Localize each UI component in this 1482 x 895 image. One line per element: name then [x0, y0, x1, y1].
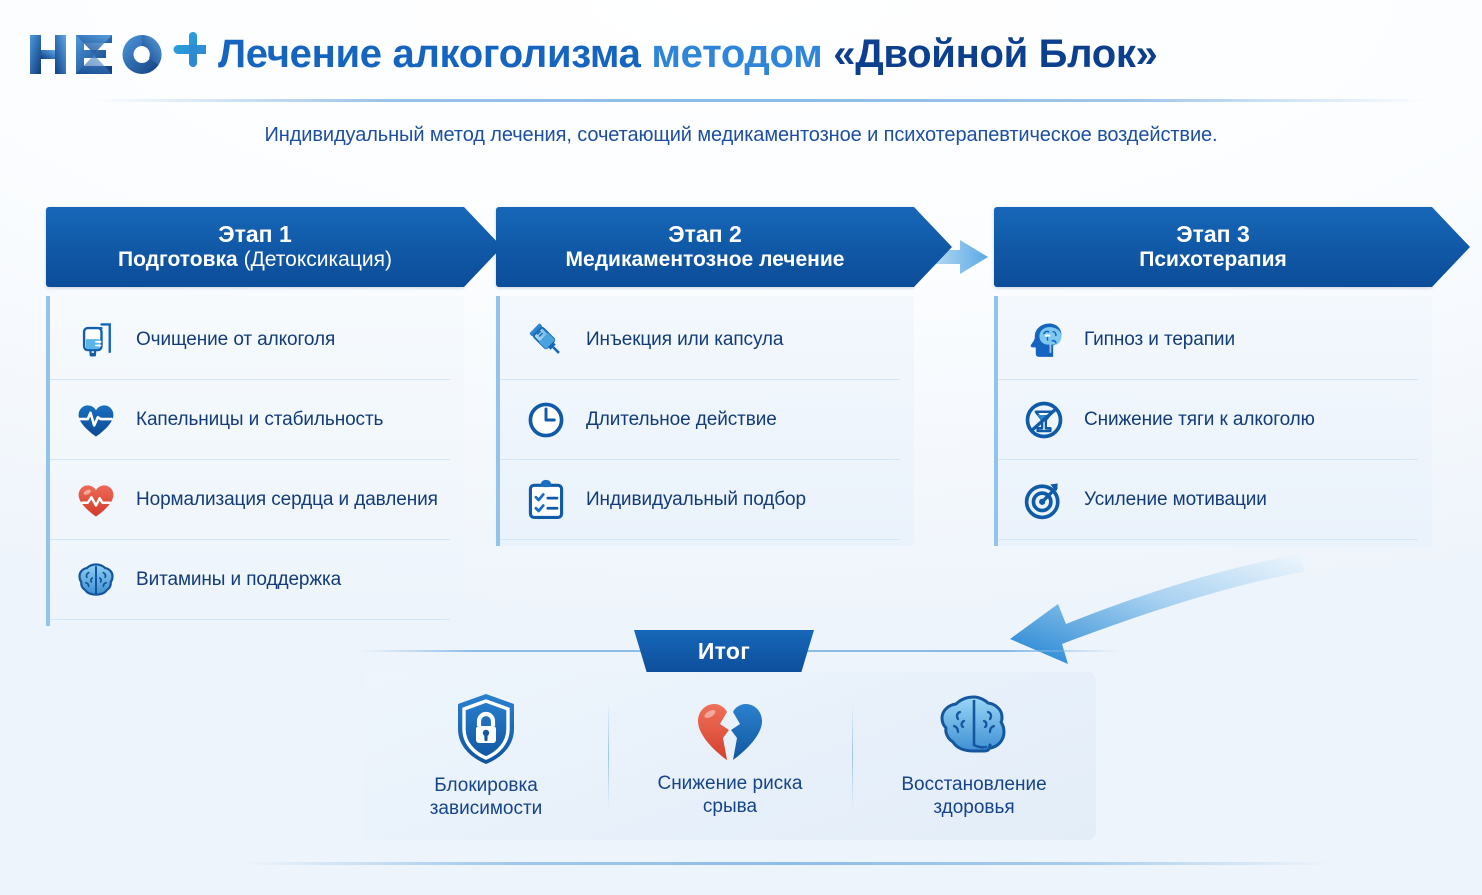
target-arrow-icon: [1020, 476, 1068, 524]
stage-header-1: Этап 1 Подготовка (Детоксикация): [46, 207, 464, 287]
list-item[interactable]: Усиление мотивации: [998, 460, 1418, 540]
heart-pulse-blue-icon: [72, 396, 120, 444]
list-item-label: Нормализация сердца и давления: [136, 489, 438, 511]
stage-body-2: Инъекция или капсула Длительное действие: [496, 296, 914, 546]
result-item[interactable]: Снижение рискасрыва: [608, 694, 852, 818]
title-part-2: методом: [651, 32, 833, 76]
list-item-label: Снижение тяги к алкоголю: [1084, 409, 1315, 431]
head-brain-icon: [1020, 316, 1068, 364]
stage-header-3: Этап 3 Психотерапия: [994, 207, 1432, 287]
brain-recovery-icon: [934, 693, 1014, 765]
result-item-label: Восстановлениездоровья: [901, 773, 1046, 819]
stage-number-2: Этап 2: [668, 222, 742, 247]
stage-column-3: Этап 3 Психотерапия Гипноз и терапии: [994, 207, 1432, 546]
neo-plus-logo: [26, 27, 206, 81]
list-item-label: Капельницы и стабильность: [136, 409, 383, 431]
list-item[interactable]: Индивидуальный подбор: [500, 460, 900, 540]
list-item-label: Индивидуальный подбор: [586, 489, 806, 511]
clipboard-checklist-icon: [522, 476, 570, 524]
stage-body-3: Гипноз и терапии Снижение тяги к алкогол…: [994, 296, 1432, 546]
list-item[interactable]: Нормализация сердца и давления: [50, 460, 450, 540]
title-part-3: «Двойной Блок»: [833, 32, 1157, 76]
list-item-label: Очищение от алкоголя: [136, 329, 335, 351]
list-item-label: Усиление мотивации: [1084, 489, 1267, 511]
syringe-icon: [522, 316, 570, 364]
list-item-label: Инъекция или капсула: [586, 329, 783, 351]
no-alcohol-icon: [1020, 396, 1068, 444]
stage-body-1: Очищение от алкоголя Капельницы и стабил…: [46, 296, 464, 626]
result-item[interactable]: Блокировказависимости: [364, 694, 608, 818]
list-item-label: Витамины и поддержка: [136, 569, 341, 591]
list-item[interactable]: Длительное действие: [500, 380, 900, 460]
header-divider: [95, 99, 1425, 102]
stage-header-2: Этап 2 Медикаментозное лечение: [496, 207, 914, 287]
result-item-label: Блокировказависимости: [430, 774, 543, 820]
page-title: Лечение алкоголизма методом «Двойной Бло…: [218, 32, 1158, 77]
stage-number-1: Этап 1: [218, 222, 292, 247]
brain-icon: [72, 556, 120, 604]
stage-note-1: (Детоксикация): [244, 248, 392, 271]
list-item[interactable]: Инъекция или капсула: [500, 300, 900, 380]
shield-lock-icon: [451, 692, 521, 766]
page-subtitle: Индивидуальный метод лечения, сочетающий…: [0, 124, 1482, 147]
list-item[interactable]: Витамины и поддержка: [50, 540, 450, 620]
list-item[interactable]: Очищение от алкоголя: [50, 300, 450, 380]
result-item[interactable]: Восстановлениездоровья: [852, 694, 1096, 818]
heart-pulse-red-icon: [72, 476, 120, 524]
iv-drip-icon: [72, 316, 120, 364]
stage-name-3: Психотерапия: [1139, 248, 1286, 271]
list-item[interactable]: Гипноз и терапии: [998, 300, 1418, 380]
clock-icon: [522, 396, 570, 444]
stage-name-1: Подготовка: [118, 248, 244, 271]
result-item-label: Снижение рискасрыва: [657, 772, 802, 818]
stage-name-2: Медикаментозное лечение: [566, 248, 845, 271]
stage-column-1: Этап 1 Подготовка (Детоксикация) Очищ: [46, 207, 464, 626]
result-badge: Итог: [634, 630, 814, 672]
list-item-label: Гипноз и терапии: [1084, 329, 1235, 351]
list-item[interactable]: Капельницы и стабильность: [50, 380, 450, 460]
broken-heart-icon: [694, 694, 766, 764]
result-panel: Блокировказависимости Снижение рискасрыв: [364, 672, 1096, 840]
stage-column-2: Этап 2 Медикаментозное лечение: [496, 207, 914, 546]
list-item[interactable]: Снижение тяги к алкоголю: [998, 380, 1418, 460]
stage-number-3: Этап 3: [1176, 222, 1250, 247]
list-item-label: Длительное действие: [586, 409, 777, 431]
title-part-1: Лечение алкоголизма: [218, 32, 651, 76]
infographic-canvas: Лечение алкоголизма методом «Двойной Бло…: [0, 0, 1482, 895]
footer-divider: [240, 862, 1335, 865]
